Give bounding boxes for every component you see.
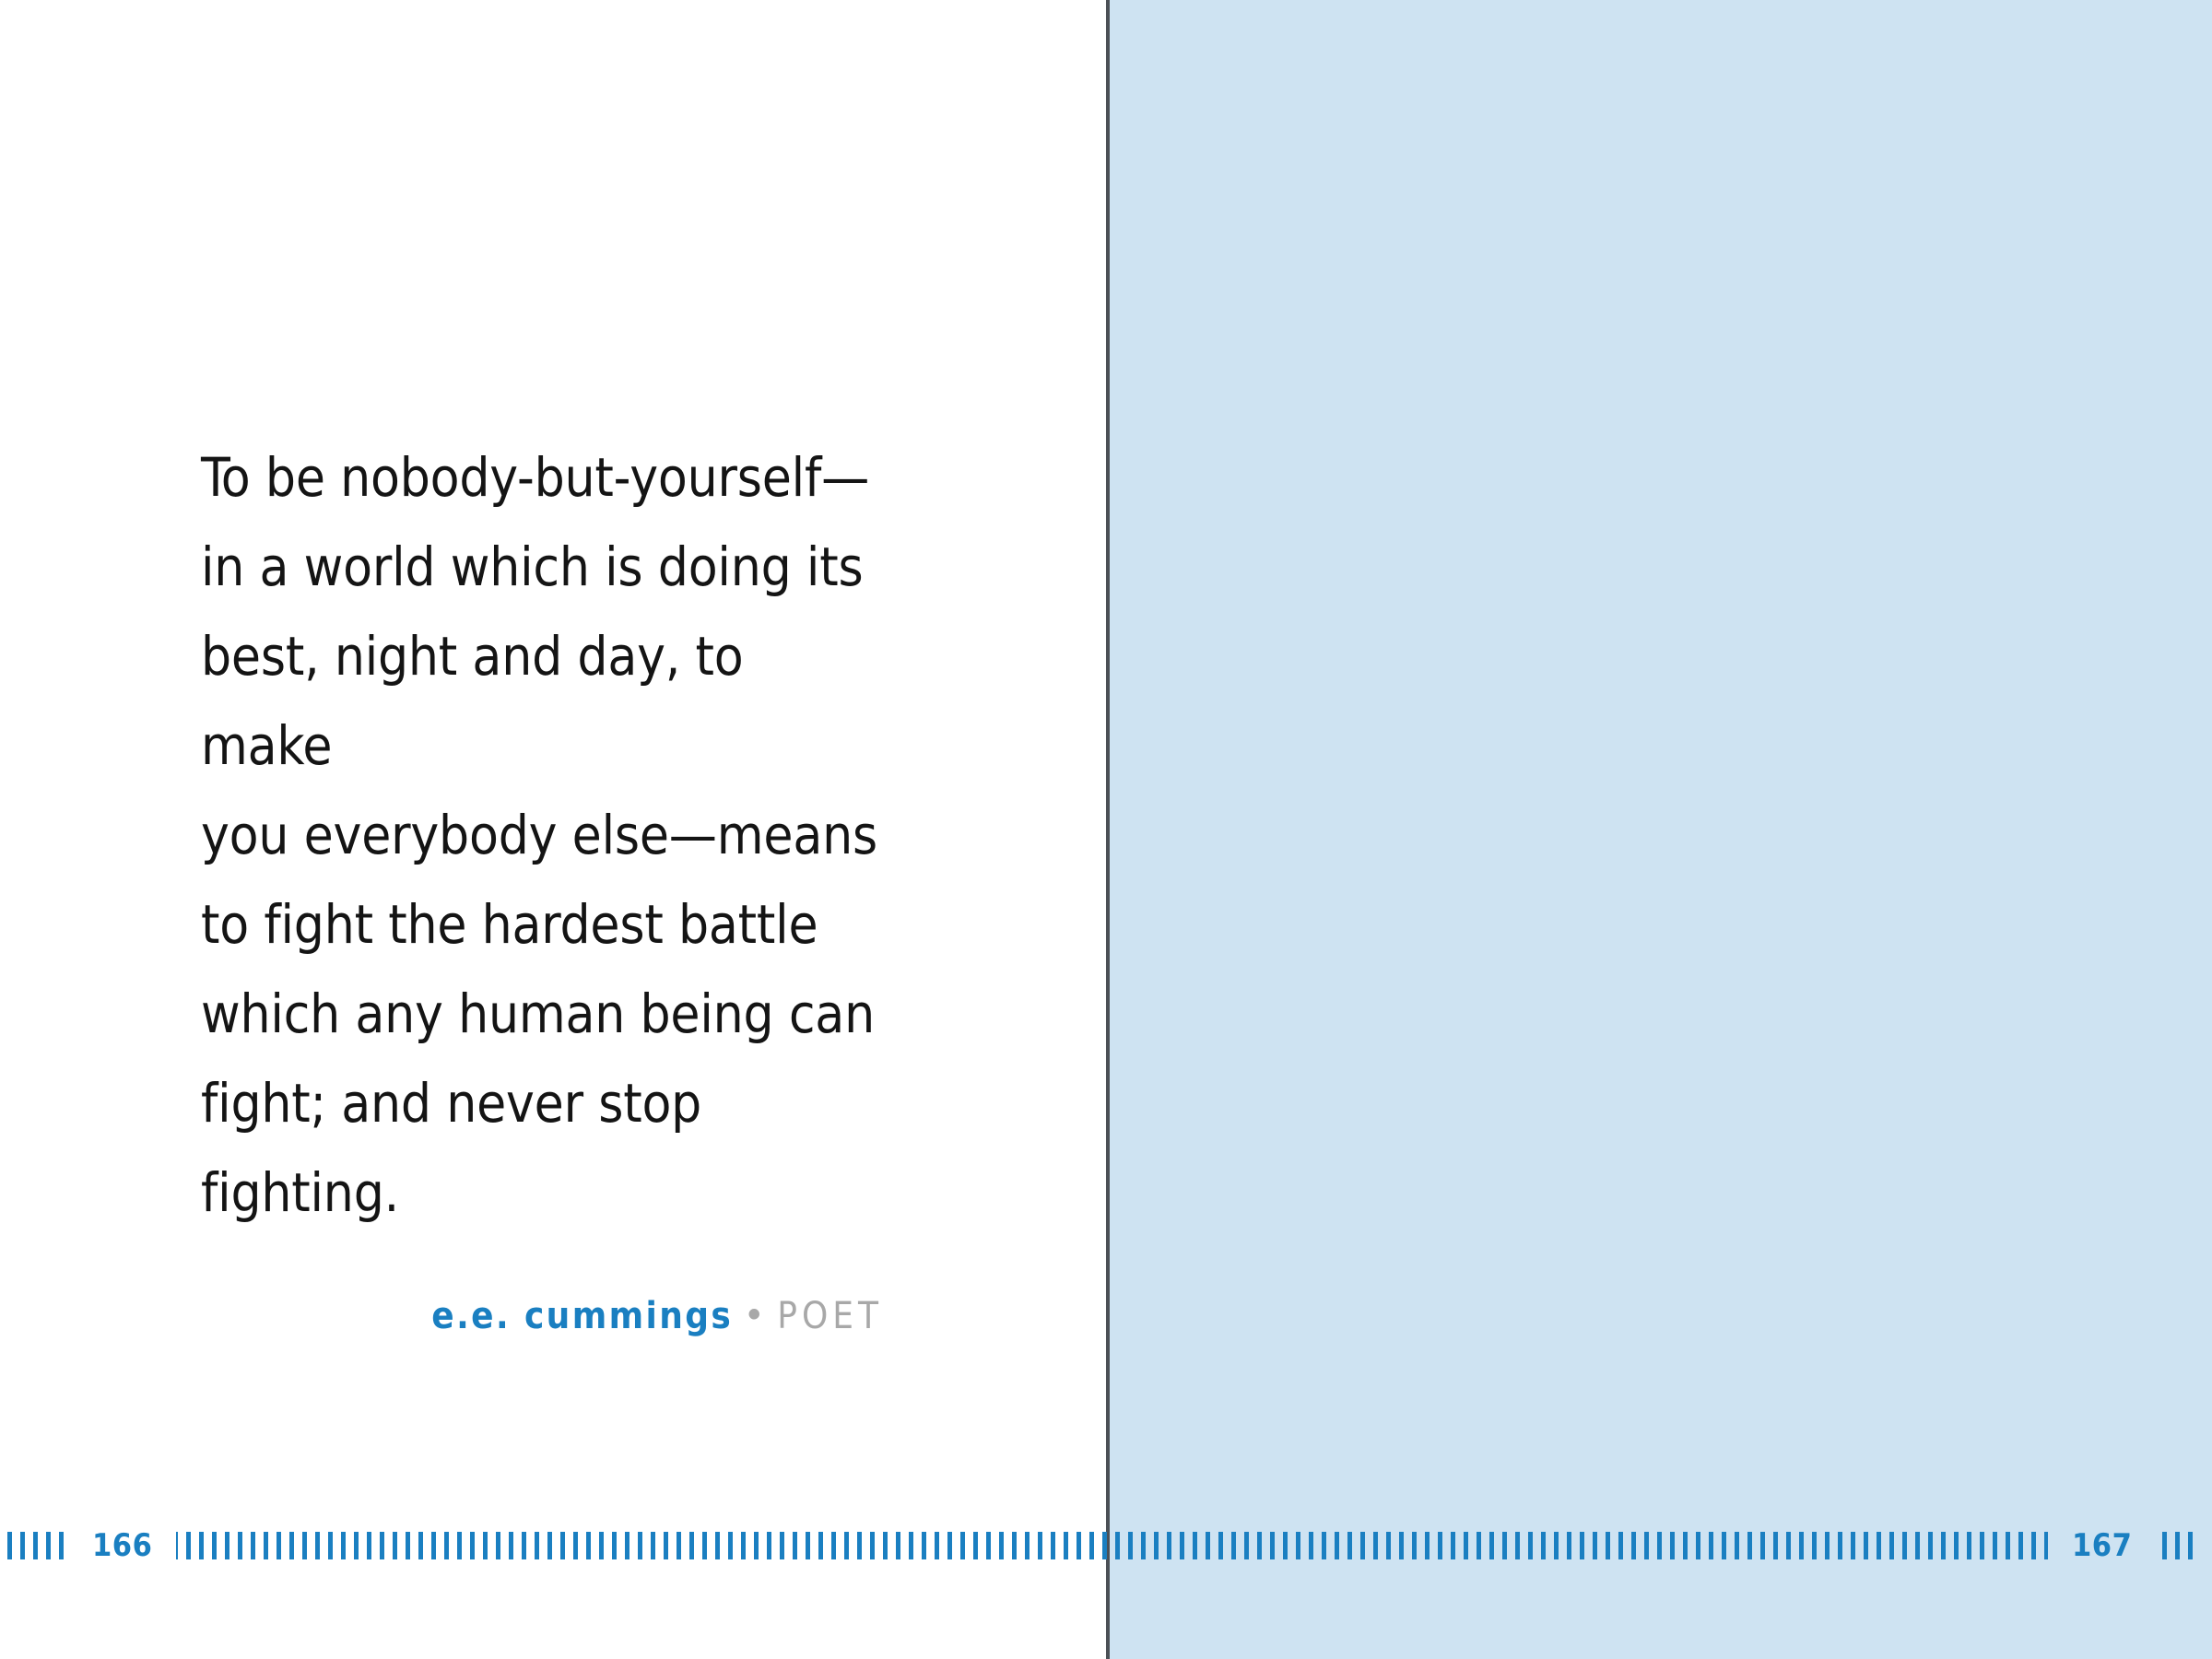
ruler-tick xyxy=(1567,1532,1571,1559)
ruler-tick xyxy=(922,1532,926,1559)
ruler-tick xyxy=(1051,1532,1055,1559)
ruler-tick xyxy=(1618,1532,1623,1559)
ruler-tick xyxy=(883,1532,888,1559)
ruler-tick xyxy=(302,1532,307,1559)
ruler-tick xyxy=(1709,1532,1713,1559)
ruler-tick xyxy=(806,1532,810,1559)
ruler-tick xyxy=(186,1532,191,1559)
ruler-tick xyxy=(754,1532,759,1559)
ruler-tick xyxy=(1657,1532,1662,1559)
ruler-tick xyxy=(1141,1532,1146,1559)
ruler-tick xyxy=(664,1532,668,1559)
ruler-tick xyxy=(1954,1532,1959,1559)
ruler-tick xyxy=(251,1532,255,1559)
left-attribution-role: POET xyxy=(777,1295,883,1337)
ruler-tick xyxy=(483,1532,488,1559)
ruler-tick xyxy=(367,1532,371,1559)
ruler-tick xyxy=(973,1532,978,1559)
ruler-tick xyxy=(1812,1532,1817,1559)
ruler-tick xyxy=(2175,1532,2180,1559)
ruler-tick xyxy=(1451,1532,1455,1559)
ruler-tick xyxy=(986,1532,991,1559)
ruler-tick xyxy=(728,1532,733,1559)
ruler-tick xyxy=(793,1532,797,1559)
ruler-tick xyxy=(677,1532,681,1559)
ruler-tick xyxy=(702,1532,707,1559)
ruler-tick xyxy=(1296,1532,1300,1559)
ruler-tick xyxy=(1154,1532,1159,1559)
ruler-tick xyxy=(1967,1532,1971,1559)
ruler-tick xyxy=(625,1532,629,1559)
ruler-tick xyxy=(999,1532,1004,1559)
right-page: Sometimes you have to play a long time t… xyxy=(1110,0,2212,1659)
ruler-tick xyxy=(1477,1532,1481,1559)
ruler-tick xyxy=(1902,1532,1907,1559)
ruler-tick xyxy=(612,1532,617,1559)
ruler-tick xyxy=(573,1532,578,1559)
ruler-tick xyxy=(1670,1532,1675,1559)
ruler-tick xyxy=(1489,1532,1494,1559)
ruler-tick xyxy=(818,1532,823,1559)
ruler-tick xyxy=(1180,1532,1184,1559)
ruler-tick xyxy=(1760,1532,1765,1559)
ruler-tick xyxy=(1877,1532,1881,1559)
ruler-tick xyxy=(1993,1532,1997,1559)
ruler-tick xyxy=(1193,1532,1197,1559)
ruler-tick xyxy=(341,1532,346,1559)
ruler-tick xyxy=(599,1532,604,1559)
ruler-tick xyxy=(1683,1532,1688,1559)
ruler-tick xyxy=(1864,1532,1868,1559)
ruler-tick xyxy=(651,1532,655,1559)
ruler-tick xyxy=(638,1532,642,1559)
page-number-right: 167 xyxy=(2048,1531,2156,1560)
ruler-tick xyxy=(547,1532,552,1559)
ruler-tick xyxy=(1012,1532,1017,1559)
ruler-tick xyxy=(1167,1532,1171,1559)
ruler-tick xyxy=(1206,1532,1210,1559)
ruler-tick xyxy=(2018,1532,2023,1559)
left-quote-text: To be nobody-but-yourself— in a world wh… xyxy=(201,433,883,1238)
ruler-tick xyxy=(7,1532,12,1559)
ruler-tick xyxy=(2188,1532,2193,1559)
ruler-tick xyxy=(328,1532,333,1559)
ruler-tick xyxy=(831,1532,836,1559)
ruler-tick xyxy=(1244,1532,1249,1559)
ruler-tick xyxy=(1102,1532,1107,1559)
ruler-tick xyxy=(870,1532,875,1559)
ruler-tick xyxy=(2162,1532,2167,1559)
ruler-tick xyxy=(780,1532,784,1559)
ruler-tick xyxy=(457,1532,462,1559)
ruler-tick xyxy=(947,1532,952,1559)
ruler-tick xyxy=(393,1532,397,1559)
ruler-tick xyxy=(264,1532,268,1559)
ruler-tick xyxy=(1373,1532,1378,1559)
ruler-tick xyxy=(1347,1532,1352,1559)
left-page: To be nobody-but-yourself— in a world wh… xyxy=(0,0,1106,1659)
ruler-tick xyxy=(2006,1532,2010,1559)
ruler-tick xyxy=(1799,1532,1804,1559)
ruler-tick xyxy=(1915,1532,1920,1559)
ruler-tick xyxy=(1231,1532,1236,1559)
ruler-tick xyxy=(225,1532,229,1559)
ruler-tick xyxy=(1541,1532,1546,1559)
ruler-tick xyxy=(844,1532,849,1559)
footer-ruler: 166 167 xyxy=(0,1532,2212,1565)
ruler-tick xyxy=(1399,1532,1404,1559)
ruler-tick xyxy=(857,1532,862,1559)
ruler-tick xyxy=(960,1532,965,1559)
ruler-tick xyxy=(586,1532,591,1559)
ruler-tick xyxy=(431,1532,436,1559)
ruler-tick xyxy=(1580,1532,1584,1559)
ruler-tick xyxy=(354,1532,359,1559)
ruler-tick xyxy=(1554,1532,1559,1559)
ruler-tick xyxy=(741,1532,746,1559)
ruler-tick xyxy=(1696,1532,1700,1559)
ruler-tick xyxy=(59,1532,64,1559)
ruler-tick xyxy=(1644,1532,1649,1559)
ruler-tick xyxy=(1257,1532,1262,1559)
ruler-tick xyxy=(496,1532,500,1559)
ruler-tick xyxy=(1077,1532,1081,1559)
ruler-tick xyxy=(1735,1532,1739,1559)
ruler-tick xyxy=(1038,1532,1042,1559)
ruler-tick xyxy=(1889,1532,1894,1559)
ruler-tick xyxy=(1838,1532,1842,1559)
ruler-tick xyxy=(238,1532,242,1559)
ruler-tick xyxy=(522,1532,526,1559)
ruler-tick xyxy=(289,1532,294,1559)
ruler-tick xyxy=(444,1532,449,1559)
ruler-tick xyxy=(1025,1532,1030,1559)
ruler-tick xyxy=(406,1532,410,1559)
ruler-tick xyxy=(1412,1532,1417,1559)
ruler-tick xyxy=(276,1532,281,1559)
ruler-tick xyxy=(1773,1532,1778,1559)
ruler-tick xyxy=(1851,1532,1855,1559)
ruler-tick xyxy=(1747,1532,1752,1559)
ruler-tick xyxy=(935,1532,939,1559)
ruler-tick xyxy=(1309,1532,1313,1559)
ruler-tick xyxy=(535,1532,539,1559)
ruler-tick xyxy=(1064,1532,1068,1559)
ruler-tick xyxy=(1606,1532,1610,1559)
left-quote-block: To be nobody-but-yourself— in a world wh… xyxy=(201,433,883,1337)
ruler-tick xyxy=(199,1532,204,1559)
ruler-tick xyxy=(1928,1532,1933,1559)
ruler-tick xyxy=(46,1532,51,1559)
ruler-tick xyxy=(560,1532,565,1559)
left-attribution: e.e. cummings•POET xyxy=(201,1295,883,1337)
ruler-tick xyxy=(1593,1532,1597,1559)
ruler-tick xyxy=(1464,1532,1468,1559)
page-number-left: 166 xyxy=(68,1531,176,1560)
ruler-tick xyxy=(1322,1532,1326,1559)
ruler-tick xyxy=(20,1532,25,1559)
ruler-tick xyxy=(1115,1532,1120,1559)
ruler-tick xyxy=(1722,1532,1726,1559)
ruler-tick xyxy=(33,1532,38,1559)
ruler-tick xyxy=(1528,1532,1533,1559)
book-spread: To be nobody-but-yourself— in a world wh… xyxy=(0,0,2212,1659)
ruler-tick xyxy=(1128,1532,1133,1559)
ruler-tick xyxy=(1218,1532,1223,1559)
ruler-tick xyxy=(1360,1532,1365,1559)
ruler-tick xyxy=(1335,1532,1339,1559)
bullet-separator-icon: • xyxy=(747,1296,760,1333)
ruler-tick xyxy=(1786,1532,1791,1559)
ruler-tick xyxy=(896,1532,900,1559)
ruler-tick xyxy=(418,1532,423,1559)
ruler-tick xyxy=(1438,1532,1442,1559)
ruler-tick xyxy=(1980,1532,1984,1559)
ruler-tick xyxy=(689,1532,694,1559)
ruler-tick xyxy=(1283,1532,1288,1559)
ruler-tick xyxy=(1089,1532,1094,1559)
ruler-tick xyxy=(1825,1532,1830,1559)
ruler-tick xyxy=(767,1532,771,1559)
ruler-tick xyxy=(509,1532,513,1559)
ruler-tick xyxy=(1515,1532,1520,1559)
ruler-tick xyxy=(380,1532,384,1559)
ruler-tick xyxy=(1386,1532,1391,1559)
ruler-tick xyxy=(2031,1532,2036,1559)
ruler-tick xyxy=(212,1532,217,1559)
ruler-tick xyxy=(1502,1532,1507,1559)
ruler-tick xyxy=(1631,1532,1636,1559)
ruler-tick xyxy=(1941,1532,1946,1559)
left-attribution-name: e.e. cummings xyxy=(431,1295,733,1337)
ruler-tick xyxy=(470,1532,475,1559)
ruler-tick xyxy=(909,1532,913,1559)
ruler-tick xyxy=(1425,1532,1430,1559)
ruler-tick xyxy=(1270,1532,1275,1559)
ruler-tick xyxy=(715,1532,720,1559)
ruler-tick xyxy=(315,1532,320,1559)
